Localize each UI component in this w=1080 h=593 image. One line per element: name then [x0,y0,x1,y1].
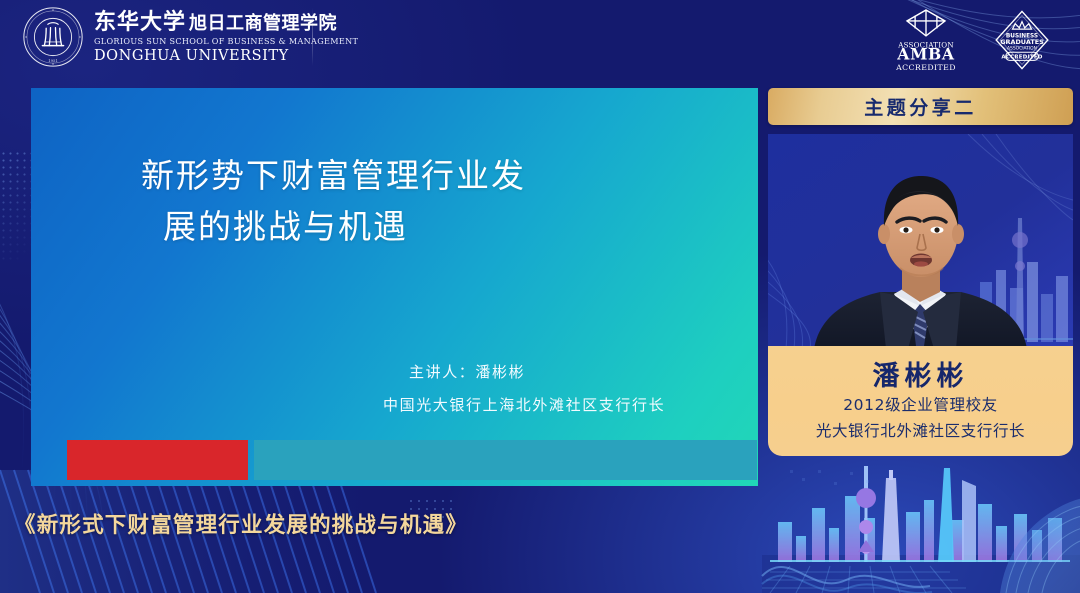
bga-accredited-icon: BUSINESS GRADUATES ASSOCIATION ACCREDITE… [988,6,1056,74]
svg-text:ACCREDITED: ACCREDITED [1001,54,1042,60]
slide-title: 新形势下财富管理行业发 展的挑战与机遇 [141,150,701,252]
brand-cn-sub: 旭日工商管理学院 [189,15,337,33]
donghua-university-seal-icon: 1951 [22,6,84,68]
brand-en-line1: GLORIOUS SUN SCHOOL OF BUSINESS & MANAGE… [94,37,358,45]
svg-text:ASSOCIATION: ASSOCIATION [1007,46,1037,52]
brand-chinese-line: 东华大学 旭日工商管理学院 [94,11,358,33]
speaker-affiliation-line1: 2012级企业管理校友 [843,394,998,417]
slide-title-line2: 展的挑战与机遇 [163,201,701,252]
slide-footer-bars [31,440,758,486]
speaker-name: 潘彬彬 [873,361,969,392]
slide-presenter-block: 主讲人：潘彬彬 中国光大银行上海北外滩社区支行行长 [409,356,739,422]
brand-cn-main: 东华大学 [94,11,186,33]
slide-title-line1: 新形势下财富管理行业发 [141,156,526,195]
header-divider [312,8,313,66]
svg-text:GRADUATES: GRADUATES [1000,38,1044,46]
header-bar: 1951 东华大学 旭日工商管理学院 GLORIOUS SUN SCHOOL O… [0,0,1080,78]
speaker-portrait [768,134,1073,349]
session-banner: 主题分享二 [768,88,1073,125]
amba-accredited-icon: ASSOCIATION AMBA ACCREDITED [892,6,960,74]
svg-text:1951: 1951 [48,59,57,63]
speaker-panel: 主题分享二 [768,88,1073,463]
bottom-caption: 《新形式下财富管理行业发展的挑战与机遇》 [14,508,468,539]
speaker-video-feed[interactable] [768,134,1073,349]
session-banner-label: 主题分享二 [864,93,977,120]
presentation-slide[interactable]: 新形势下财富管理行业发 展的挑战与机遇 主讲人：潘彬彬 中国光大银行上海北外滩社… [31,88,758,486]
speaker-affiliation-line2: 光大银行北外滩社区支行行长 [816,420,1025,443]
speaker-name-card: 潘彬彬 2012级企业管理校友 光大银行北外滩社区支行行长 [768,346,1073,456]
brand-text: 东华大学 旭日工商管理学院 GLORIOUS SUN SCHOOL OF BUS… [94,11,358,63]
university-logo: 1951 东华大学 旭日工商管理学院 GLORIOUS SUN SCHOOL O… [22,6,358,68]
slide-bar-teal [254,440,757,480]
svg-text:ACCREDITED: ACCREDITED [895,63,956,72]
brand-en-line2: DONGHUA UNIVERSITY [94,49,358,64]
slide-bar-red [67,440,248,480]
accreditation-logos: ASSOCIATION AMBA ACCREDITED BUSINESS GRA… [892,6,1056,74]
slide-affiliation-line: 中国光大银行上海北外滩社区支行行长 [383,389,739,422]
svg-text:AMBA: AMBA [896,45,955,64]
slide-presenter-line: 主讲人：潘彬彬 [409,363,525,381]
